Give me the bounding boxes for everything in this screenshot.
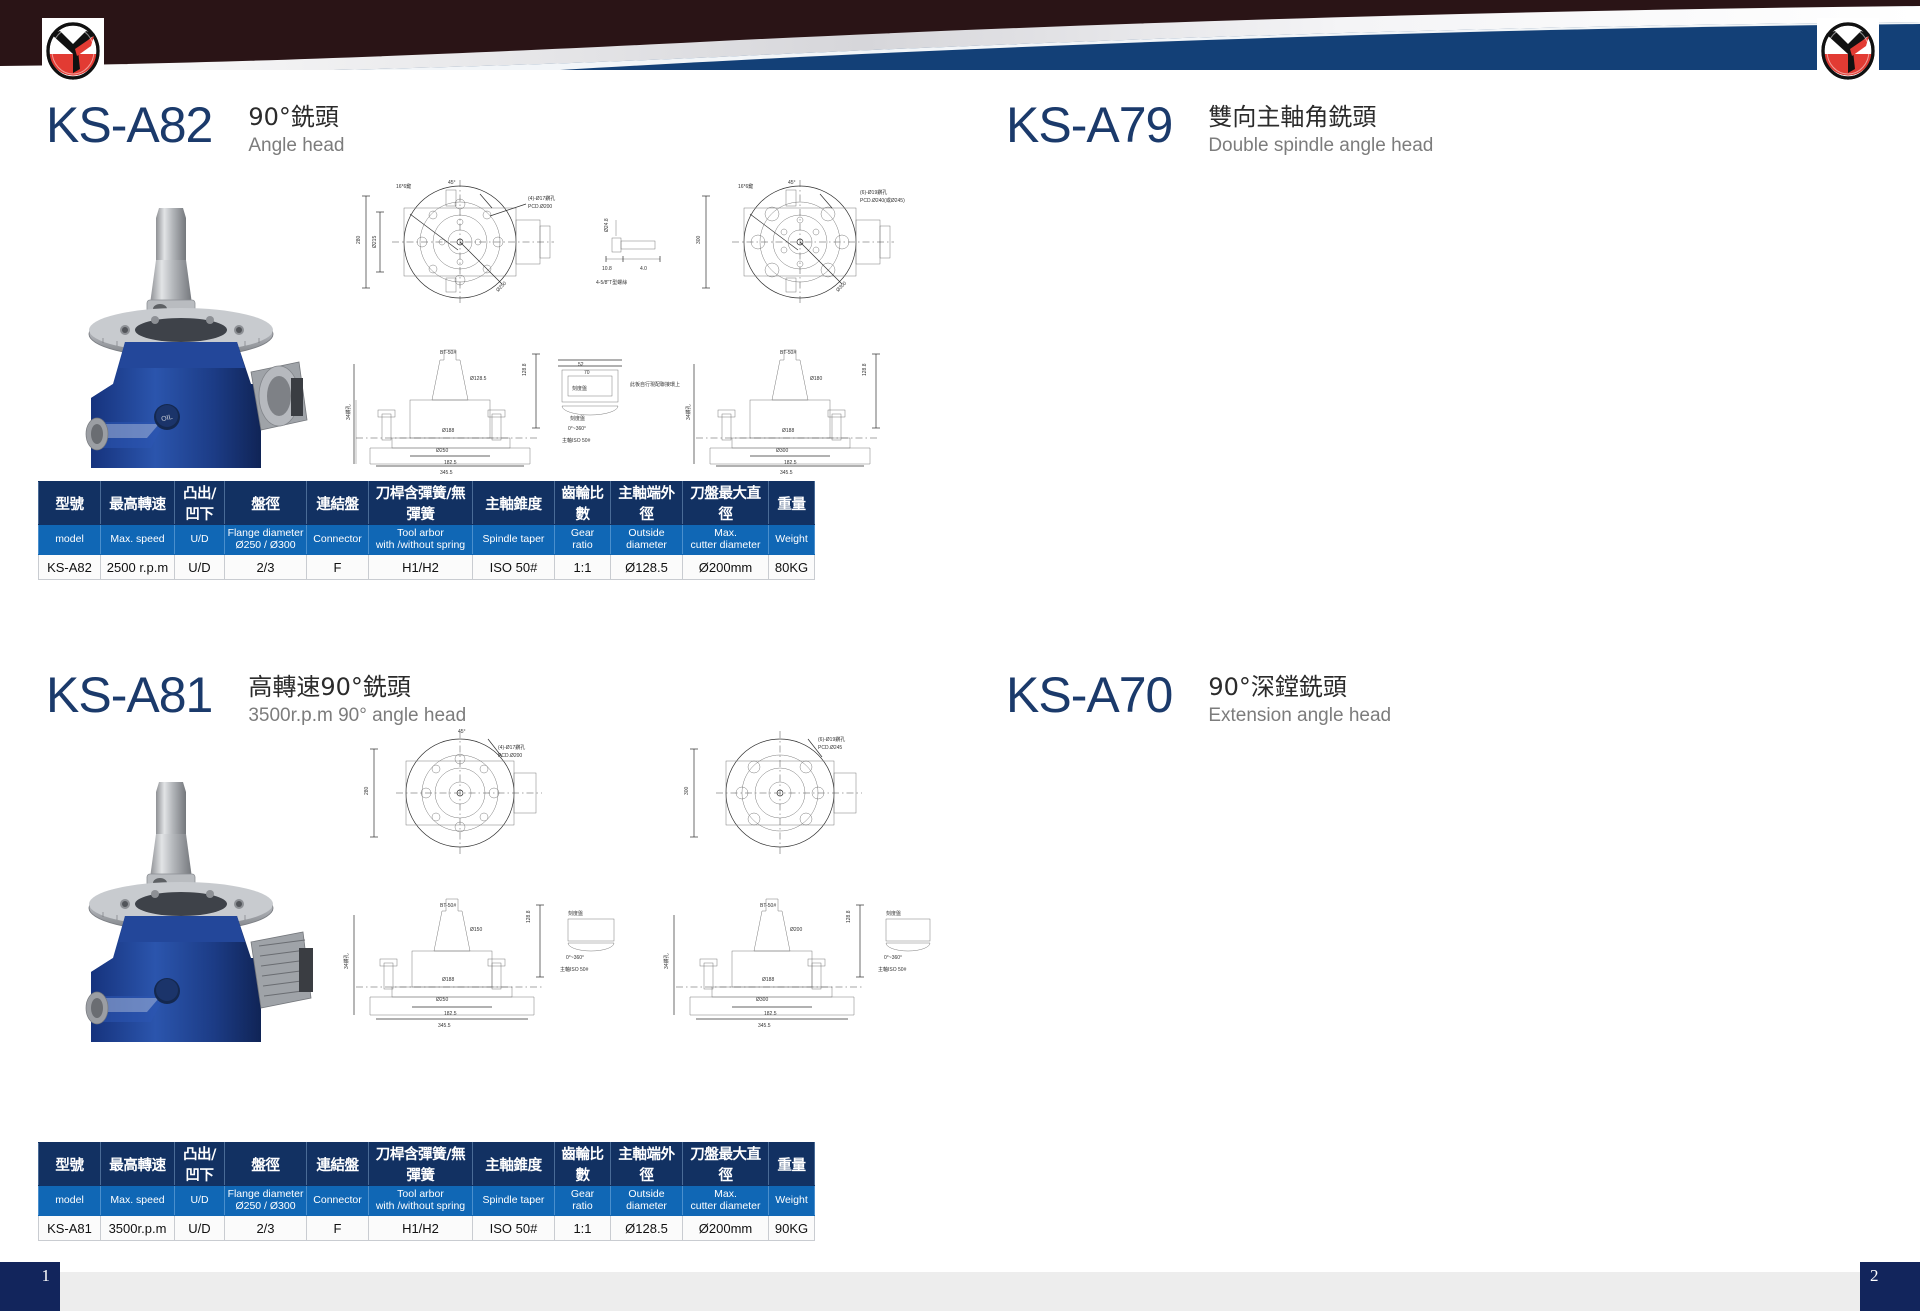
th-en-4: Connector xyxy=(307,525,369,555)
model-code: KS-A79 xyxy=(1006,100,1172,150)
cell-ud: U/D xyxy=(175,555,225,580)
th-en-5: Tool arborwith /without spring xyxy=(369,525,473,555)
cell-spindle-taper: ISO 50# xyxy=(473,555,555,580)
title-chinese: 雙向主軸角銑頭 xyxy=(1208,102,1433,132)
th-cn-7: 齒輪比數 xyxy=(555,482,611,525)
svg-text:345.5: 345.5 xyxy=(780,470,793,474)
th-en-1: Max. speed xyxy=(101,1186,175,1216)
th-cn-9: 刀盤最大直徑 xyxy=(683,1143,769,1186)
svg-text:345.5: 345.5 xyxy=(440,470,453,474)
svg-text:(6)-Ø19鑽孔: (6)-Ø19鑽孔 xyxy=(860,189,887,196)
svg-text:4.0: 4.0 xyxy=(640,266,647,272)
th-cn-5: 刀桿含彈簧/無彈簧 xyxy=(369,1143,473,1186)
th-cn-6: 主軸錐度 xyxy=(473,1143,555,1186)
th-cn-10: 重量 xyxy=(769,482,815,525)
svg-text:Ø188: Ø188 xyxy=(442,977,454,983)
svg-text:345.5: 345.5 xyxy=(438,1023,451,1029)
th-en-10: Weight xyxy=(769,1186,815,1216)
svg-text:45°: 45° xyxy=(448,180,456,186)
svg-text:BT-50#: BT-50# xyxy=(760,903,776,909)
svg-text:128.8: 128.8 xyxy=(862,363,868,376)
svg-text:主軸ISO 50#: 主軸ISO 50# xyxy=(562,437,591,444)
product-title-ks-a82: KS-A82 90°銑頭 Angle head xyxy=(46,100,344,159)
svg-text:主軸ISO 50#: 主軸ISO 50# xyxy=(560,966,589,973)
svg-text:Ø300: Ø300 xyxy=(835,280,848,293)
th-cn-0: 型號 xyxy=(39,1143,101,1186)
svg-text:Ø300: Ø300 xyxy=(756,997,768,1003)
th-cn-0: 型號 xyxy=(39,482,101,525)
svg-text:Ø250: Ø250 xyxy=(436,997,448,1003)
dim-label: 16*6鍵 xyxy=(396,183,411,190)
page-number-right: 2 xyxy=(1860,1262,1920,1311)
th-cn-9: 刀盤最大直徑 xyxy=(683,482,769,525)
svg-text:10.8: 10.8 xyxy=(602,266,612,272)
svg-text:Ø24.8: Ø24.8 xyxy=(604,218,610,232)
th-en-10: Weight xyxy=(769,525,815,555)
header-banner xyxy=(0,0,1920,84)
cell-max-cutter-diameter: Ø200mm xyxy=(683,555,769,580)
svg-text:182.5: 182.5 xyxy=(444,460,457,466)
svg-text:0°~360°: 0°~360° xyxy=(568,426,586,432)
svg-text:PCD.Ø200: PCD.Ø200 xyxy=(528,204,552,210)
product-block-ks-a79: KS-A79 雙向主軸角銑頭 Double spindle angle head xyxy=(960,84,1920,654)
svg-text:Ø188: Ø188 xyxy=(442,428,454,434)
svg-text:此板自行現配聯接環上: 此板自行現配聯接環上 xyxy=(630,381,680,388)
title-chinese: 高轉速90°銑頭 xyxy=(248,672,466,702)
cell-connector: F xyxy=(307,555,369,580)
th-cn-4: 連結盤 xyxy=(307,1143,369,1186)
model-code: KS-A82 xyxy=(46,100,212,150)
product-block-ks-a82: KS-A82 90°銑頭 Angle head xyxy=(0,84,960,654)
th-en-9: Max.cutter diameter xyxy=(683,1186,769,1216)
svg-text:主軸ISO 50#: 主軸ISO 50# xyxy=(878,966,907,973)
svg-text:70: 70 xyxy=(584,370,590,376)
svg-text:128.8: 128.8 xyxy=(526,910,532,923)
company-logo-left xyxy=(42,18,104,80)
svg-text:16*6鍵: 16*6鍵 xyxy=(738,183,753,190)
table-header-row-cn: 型號 最高轉速 凸出/凹下 盤徑 連結盤 刀桿含彈簧/無彈簧 主軸錐度 齒輪比數… xyxy=(39,482,815,525)
svg-text:280: 280 xyxy=(364,786,370,795)
svg-text:Ø150: Ø150 xyxy=(470,927,482,933)
cell-max-speed: 3500r.p.m xyxy=(101,1216,175,1241)
title-english: Double spindle angle head xyxy=(1208,134,1433,159)
th-cn-7: 齒輪比數 xyxy=(555,1143,611,1186)
svg-text:(6)-Ø19鑽孔: (6)-Ø19鑽孔 xyxy=(818,736,845,743)
cell-spindle-taper: ISO 50# xyxy=(473,1216,555,1241)
svg-text:刻度盤: 刻度盤 xyxy=(886,910,901,917)
svg-text:PCD.Ø240(或Ø245): PCD.Ø240(或Ø245) xyxy=(860,197,905,204)
th-en-6: Spindle taper xyxy=(473,525,555,555)
product-photo-ks-a81 xyxy=(55,746,325,1046)
th-cn-1: 最高轉速 xyxy=(101,482,175,525)
svg-text:0°~360°: 0°~360° xyxy=(884,955,902,961)
footer-white-strip xyxy=(0,1254,1920,1272)
th-en-1: Max. speed xyxy=(101,525,175,555)
th-en-8: Outsidediameter xyxy=(611,525,683,555)
th-en-2: U/D xyxy=(175,525,225,555)
th-en-3: Flange diameterØ250 / Ø300 xyxy=(225,525,307,555)
th-cn-10: 重量 xyxy=(769,1143,815,1186)
svg-text:刻度盤: 刻度盤 xyxy=(568,910,583,917)
svg-text:182.5: 182.5 xyxy=(444,1011,457,1017)
th-cn-2: 凸出/凹下 xyxy=(175,482,225,525)
svg-text:52: 52 xyxy=(578,362,584,368)
svg-text:PCD.Ø245: PCD.Ø245 xyxy=(818,745,842,751)
table-header-row-cn: 型號 最高轉速 凸出/凹下 盤徑 連結盤 刀桿含彈簧/無彈簧 主軸錐度 齒輪比數… xyxy=(39,1143,815,1186)
product-title-ks-a79: KS-A79 雙向主軸角銑頭 Double spindle angle head xyxy=(1006,100,1433,159)
svg-text:Ø200: Ø200 xyxy=(790,927,802,933)
svg-text:Ø250: Ø250 xyxy=(436,448,448,454)
svg-text:BT-50#: BT-50# xyxy=(780,350,796,356)
cell-outside-diameter: Ø128.5 xyxy=(611,1216,683,1241)
svg-text:Ø128.5: Ø128.5 xyxy=(470,376,487,382)
svg-text:Ø180: Ø180 xyxy=(810,376,822,382)
cell-tool-arbor: H1/H2 xyxy=(369,1216,473,1241)
model-code: KS-A81 xyxy=(46,670,212,720)
th-en-9: Max.cutter diameter xyxy=(683,525,769,555)
svg-text:182.5: 182.5 xyxy=(784,460,797,466)
th-cn-8: 主軸端外徑 xyxy=(611,482,683,525)
product-block-ks-a81: KS-A81 高轉速90°銑頭 3500r.p.m 90° angle head xyxy=(0,654,960,1254)
th-en-2: U/D xyxy=(175,1186,225,1216)
product-title-ks-a70: KS-A70 90°深鏜銑頭 Extension angle head xyxy=(1006,670,1391,729)
product-photo-ks-a82: OIL xyxy=(55,172,325,472)
cell-ud: U/D xyxy=(175,1216,225,1241)
th-en-5: Tool arborwith /without spring xyxy=(369,1186,473,1216)
cell-tool-arbor: H1/H2 xyxy=(369,555,473,580)
th-en-4: Connector xyxy=(307,1186,369,1216)
table-row: KS-A82 2500 r.p.m U/D 2/3 F H1/H2 ISO 50… xyxy=(39,555,815,580)
title-chinese: 90°深鏜銑頭 xyxy=(1208,672,1391,702)
title-english: Angle head xyxy=(248,134,344,159)
company-logo-right xyxy=(1817,18,1879,80)
svg-text:(4)-Ø17鑽孔: (4)-Ø17鑽孔 xyxy=(528,195,555,202)
title-english: Extension angle head xyxy=(1208,704,1391,729)
spec-table-ks-a82: 型號 最高轉速 凸出/凹下 盤徑 連結盤 刀桿含彈簧/無彈簧 主軸錐度 齒輪比數… xyxy=(38,481,815,580)
th-en-7: Gearratio xyxy=(555,525,611,555)
cell-flange-diameter: 2/3 xyxy=(225,1216,307,1241)
svg-text:Ø188: Ø188 xyxy=(782,428,794,434)
page-number-left: 1 xyxy=(0,1262,60,1311)
svg-text:34鑽孔: 34鑽孔 xyxy=(663,953,670,969)
th-cn-3: 盤徑 xyxy=(225,1143,307,1186)
svg-text:刻度盤: 刻度盤 xyxy=(572,385,587,392)
svg-text:34鑽孔: 34鑽孔 xyxy=(345,404,352,420)
svg-text:BT-50#: BT-50# xyxy=(440,903,456,909)
cell-connector: F xyxy=(307,1216,369,1241)
cell-flange-diameter: 2/3 xyxy=(225,555,307,580)
cell-outside-diameter: Ø128.5 xyxy=(611,555,683,580)
model-code: KS-A70 xyxy=(1006,670,1172,720)
svg-text:(4)-Ø17鑽孔: (4)-Ø17鑽孔 xyxy=(498,744,525,751)
svg-text:0°~360°: 0°~360° xyxy=(566,955,584,961)
table-header-row-en: model Max. speed U/D Flange diameterØ250… xyxy=(39,1186,815,1216)
cell-weight: 90KG xyxy=(769,1216,815,1241)
cell-weight: 80KG xyxy=(769,555,815,580)
technical-drawing-ks-a81: 45° (4)-Ø17鑽孔 PCD.Ø200 280 (6)-Ø19鑽孔 PCD… xyxy=(330,719,940,1029)
svg-text:45°: 45° xyxy=(458,729,466,735)
th-cn-2: 凸出/凹下 xyxy=(175,1143,225,1186)
svg-text:Ø188: Ø188 xyxy=(762,977,774,983)
svg-text:34鑽孔: 34鑽孔 xyxy=(685,404,692,420)
svg-text:300: 300 xyxy=(684,786,690,795)
th-cn-8: 主軸端外徑 xyxy=(611,1143,683,1186)
cell-max-speed: 2500 r.p.m xyxy=(101,555,175,580)
th-en-8: Outsidediameter xyxy=(611,1186,683,1216)
svg-text:34鑽孔: 34鑽孔 xyxy=(343,953,350,969)
cell-gear-ratio: 1:1 xyxy=(555,555,611,580)
technical-drawing-ks-a82: 16*6鍵 45° (4)-Ø17鑽孔 PCD.Ø200 Ø250 280 Ø2… xyxy=(340,164,940,474)
spec-table-ks-a81: 型號 最高轉速 凸出/凹下 盤徑 連結盤 刀桿含彈簧/無彈簧 主軸錐度 齒輪比數… xyxy=(38,1142,815,1241)
svg-text:45°: 45° xyxy=(788,180,796,186)
th-en-0: model xyxy=(39,525,101,555)
footer-bar xyxy=(0,1272,1920,1311)
svg-text:刻度盤: 刻度盤 xyxy=(570,415,585,422)
cell-model: KS-A82 xyxy=(39,555,101,580)
svg-text:Ø300: Ø300 xyxy=(776,448,788,454)
cell-model: KS-A81 xyxy=(39,1216,101,1241)
product-block-ks-a70: KS-A70 90°深鏜銑頭 Extension angle head xyxy=(960,654,1920,1254)
th-cn-1: 最高轉速 xyxy=(101,1143,175,1186)
svg-text:182.5: 182.5 xyxy=(764,1011,777,1017)
svg-text:PCD.Ø200: PCD.Ø200 xyxy=(498,753,522,759)
th-cn-4: 連結盤 xyxy=(307,482,369,525)
title-chinese: 90°銑頭 xyxy=(248,102,344,132)
svg-text:Ø250: Ø250 xyxy=(495,280,508,293)
catalog-page: KS-A82 90°銑頭 Angle head xyxy=(0,0,1920,1311)
th-cn-6: 主軸錐度 xyxy=(473,482,555,525)
th-en-3: Flange diameterØ250 / Ø300 xyxy=(225,1186,307,1216)
svg-text:280: 280 xyxy=(356,235,362,244)
cell-gear-ratio: 1:1 xyxy=(555,1216,611,1241)
svg-text:345.5: 345.5 xyxy=(758,1023,771,1029)
svg-text:4-5/8"T型螺絲: 4-5/8"T型螺絲 xyxy=(596,279,627,286)
svg-text:300: 300 xyxy=(696,235,702,244)
svg-text:BT-50#: BT-50# xyxy=(440,350,456,356)
th-en-7: Gearratio xyxy=(555,1186,611,1216)
svg-text:128.8: 128.8 xyxy=(522,363,528,376)
th-en-6: Spindle taper xyxy=(473,1186,555,1216)
cell-max-cutter-diameter: Ø200mm xyxy=(683,1216,769,1241)
svg-text:Ø215: Ø215 xyxy=(372,236,378,248)
th-en-0: model xyxy=(39,1186,101,1216)
th-cn-3: 盤徑 xyxy=(225,482,307,525)
table-header-row-en: model Max. speed U/D Flange diameterØ250… xyxy=(39,525,815,555)
th-cn-5: 刀桿含彈簧/無彈簧 xyxy=(369,482,473,525)
svg-text:128.8: 128.8 xyxy=(846,910,852,923)
table-row: KS-A81 3500r.p.m U/D 2/3 F H1/H2 ISO 50#… xyxy=(39,1216,815,1241)
